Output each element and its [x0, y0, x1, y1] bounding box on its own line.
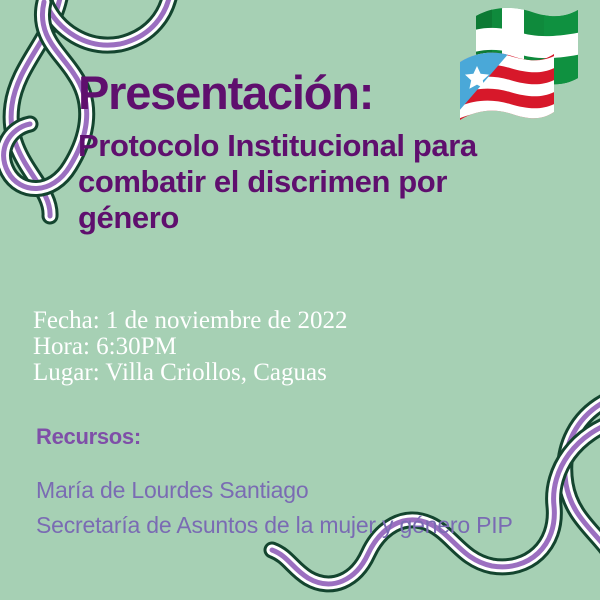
page-subtitle: Protocolo Institucional para combatir el… [78, 128, 548, 236]
page-title: Presentación: [78, 68, 373, 118]
poster-canvas: Presentación: Protocolo Institucional pa… [0, 0, 600, 600]
event-date: Fecha: 1 de noviembre de 2022 [33, 308, 348, 334]
event-time: Hora: 6:30PM [33, 334, 348, 360]
resources-heading: Recursos: [36, 424, 141, 450]
event-place: Lugar: Villa Criollos, Caguas [33, 360, 348, 386]
event-details: Fecha: 1 de noviembre de 2022 Hora: 6:30… [33, 308, 348, 386]
resource-item-name: María de Lourdes Santiago [36, 477, 308, 504]
poster-content: Presentación: Protocolo Institucional pa… [0, 0, 600, 600]
resource-item-role: Secretaría de Asuntos de la mujer y géne… [36, 512, 513, 539]
